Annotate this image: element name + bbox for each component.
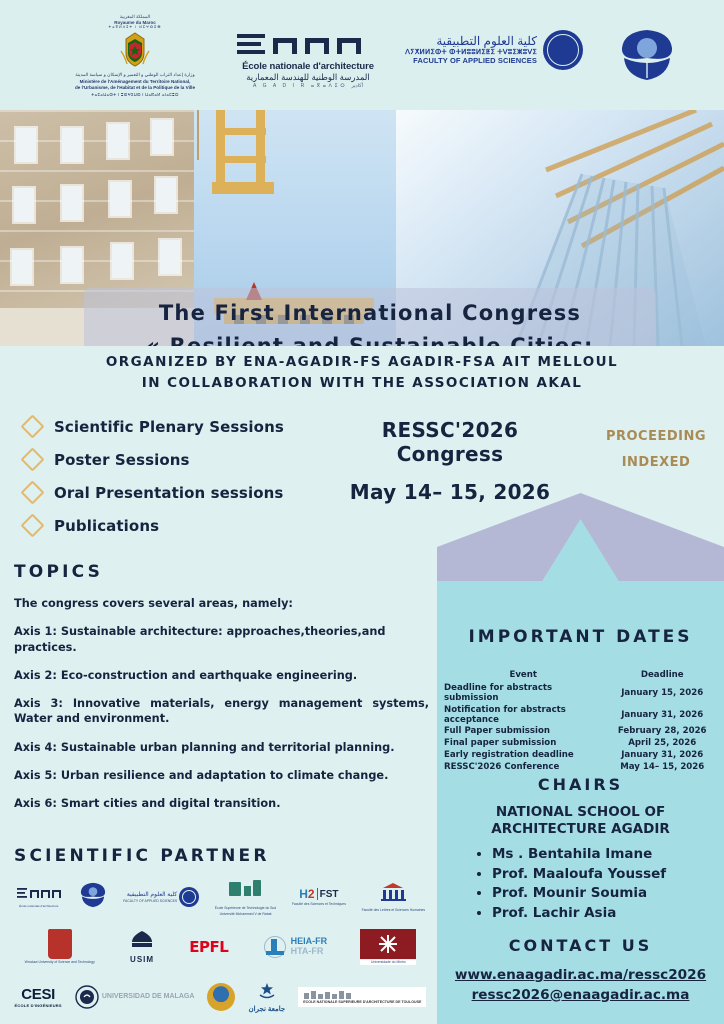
- table-row: Early registration deadline January 31, …: [444, 749, 722, 761]
- congress-info: RESSC'2026 Congress May 14– 15, 2026: [325, 418, 575, 504]
- topic-axis-1: Axis 1: Sustainable architecture: approa…: [14, 624, 434, 655]
- contact-details: www.enaagadir.ac.ma/ressc2026 ressc2026@…: [437, 966, 724, 1005]
- malaga-seal-icon: [75, 985, 99, 1009]
- date-event: Full Paper submission: [444, 726, 602, 738]
- date-event: Deadline for abstracts submission: [444, 682, 602, 704]
- partner-subcaption: ÉCOLE D'INGÉNIEURS: [15, 1003, 62, 1008]
- diamond-bullet-icon: [20, 513, 44, 537]
- table-row: Full Paper submission February 28, 2026: [444, 726, 722, 738]
- ena-agadir-logo: École nationale d'architecture المدرسة ا…: [233, 32, 383, 89]
- partner-faculty-applied-sciences: كلية العلوم التطبيقية FACULTY OF APPLIED…: [123, 887, 199, 907]
- important-dates-table: Event Deadline Deadline for abstracts su…: [444, 670, 722, 773]
- ibn-zohr-university-logo: [612, 28, 682, 87]
- table-row: Final paper submission April 25, 2026: [444, 737, 722, 749]
- date-event: Early registration deadline: [444, 749, 602, 761]
- fas-arabic-name: كلية العلوم التطبيقية: [398, 35, 537, 48]
- topic-axis-5: Axis 5: Urban resilience and adaptation …: [14, 768, 434, 783]
- partner-caption: Wroclaw University of Science and Techno…: [25, 960, 95, 964]
- partner-caption: École nationale d'architecture: [16, 905, 62, 909]
- morocco-ministry-fr2: de l'Urbanisme, de l'Habitat et de la Po…: [75, 85, 195, 90]
- table-row: RESSC'2026 Conference May 14– 15, 2026: [444, 761, 722, 773]
- date-event: RESSC'2026 Conference: [444, 761, 602, 773]
- partner-wroclaw: Wroclaw University of Science and Techno…: [25, 929, 95, 964]
- partner-caption: USIM: [128, 955, 156, 964]
- website-link[interactable]: www.enaagadir.ac.ma/ressc2026: [455, 967, 706, 983]
- scientific-partner-heading: SCIENTIFIC PARTNER: [14, 846, 270, 866]
- column-header-deadline: Deadline: [602, 670, 722, 682]
- organized-by: ORGANIZED BY ENA-AGADIR-FS AGADIR-FSA AI…: [0, 352, 724, 394]
- topics-body: The congress covers several areas, namel…: [14, 596, 434, 824]
- partner-subcaption: Université Mohammed V de Rabat: [215, 912, 276, 916]
- ena-french-name: École nationale d'architecture: [233, 61, 383, 72]
- partner-usim: USIM: [128, 930, 156, 964]
- organized-by-line-1: ORGANIZED BY ENA-AGADIR-FS AGADIR-FSA AI…: [0, 352, 724, 373]
- partner-ensa-toulouse: ECOLE NATIONALE SUPERIEURE D'ARCHITECTUR…: [298, 987, 426, 1007]
- partner-caption: جامعة نجران: [249, 1005, 286, 1013]
- congress-name: RESSC'2026 Congress: [325, 418, 575, 466]
- topic-axis-6: Axis 6: Smart cities and digital transit…: [14, 796, 434, 811]
- session-label: Oral Presentation sessions: [54, 484, 283, 502]
- partner-flsh: Faculté des Lettres et Sciences Humaines: [362, 882, 426, 912]
- partner-caption: FACULTY OF APPLIED SCIENCES: [123, 899, 177, 903]
- partner-caption: Universidade do Minho: [360, 960, 416, 964]
- wroclaw-crest-icon: [48, 929, 72, 959]
- list-item: Ms . Bentahila Imane: [492, 846, 724, 862]
- contact-heading: CONTACT US: [437, 936, 724, 955]
- najran-logo-icon: [256, 982, 278, 1000]
- ensa-toulouse-logo-icon: ECOLE NATIONALE SUPERIEURE D'ARCHITECTUR…: [298, 987, 426, 1007]
- date-deadline: January 31, 2026: [602, 749, 722, 761]
- partner-est: École Supérieure de Technologie du Sud U…: [215, 878, 276, 916]
- usim-logo-icon: [128, 930, 156, 950]
- session-label: Scientific Plenary Sessions: [54, 418, 284, 436]
- morocco-tifinagh-kingdom: ⵜⴰⴳⵍⴷⵉⵜ ⵏ ⵍⵎⵖⵔⵉⴱ: [45, 25, 225, 29]
- date-event: Notification for abstracts acceptance: [444, 704, 602, 726]
- university-seal-icon: [78, 880, 108, 910]
- sessions-list: Scientific Plenary Sessions Poster Sessi…: [24, 410, 324, 542]
- morocco-ministry-arabic: وزارة إعداد التراب الوطني و التعمير و ال…: [45, 72, 225, 79]
- partner-caption: ECOLE NATIONALE SUPERIEURE D'ARCHITECTUR…: [303, 1000, 421, 1004]
- partner-caption: Faculté des Sciences et Techniques: [292, 902, 346, 906]
- proceeding-indexed-badge: PROCEEDING INDEXED: [600, 424, 712, 476]
- title-line-2: « Resilient and Sustainable Cities:: [84, 330, 656, 346]
- partner-cesi: CESI ÉCOLE D'INGÉNIEURS: [15, 986, 62, 1008]
- topics-heading: TOPICS: [14, 562, 103, 582]
- proceeding-line-2: INDEXED: [600, 450, 712, 476]
- partner-logo-row-2: Wroclaw University of Science and Techno…: [8, 922, 433, 972]
- session-label: Poster Sessions: [54, 451, 190, 469]
- list-item: Prof. Mounir Soumia: [492, 885, 724, 901]
- partner-heia-fr: HEIA-FR HTA-FR: [262, 936, 328, 958]
- morocco-ministry-tifinagh: ⵜⴰⵎⴰⵡⴰⵙⵜ ⵏ ⵓⵙⵖⵉⵡⵙ ⵏ ⵡⴰⴽⴰⵍ ⴰⵏⴰⵎⵓⵔ: [45, 92, 225, 97]
- diamond-bullet-icon: [20, 414, 44, 438]
- date-event: Final paper submission: [444, 737, 602, 749]
- diamond-bullet-icon: [20, 447, 44, 471]
- fas-tifinagh-name: ⴷⵢⵅⵍⵍⵉⵀⵜ ⵀⵜⵍⵓⵓⵍⵉⵟⵉ ⵜⴸⵓⵉⵥⵓⴸⵉ: [398, 48, 537, 56]
- title-banner: The First International Congress « Resil…: [0, 110, 724, 346]
- table-row: Deadline for abstracts submission Januar…: [444, 682, 722, 704]
- partner-epfl: EPFL: [189, 938, 228, 956]
- date-deadline: January 15, 2026: [602, 682, 722, 704]
- faculty-applied-sciences-logo: كلية العلوم التطبيقية ⴷⵢⵅⵍⵍⵉⵀⵜ ⵀⵜⵍⵓⵓⵍⵉⵟⵉ…: [398, 30, 583, 70]
- morocco-crest-icon: [118, 31, 152, 69]
- chairs-institution-line-1: NATIONAL SCHOOL OF: [457, 804, 704, 821]
- topic-axis-3: Axis 3: Innovative materials, energy man…: [14, 696, 429, 727]
- organized-by-line-2: IN COLLABORATION WITH THE ASSOCIATION AK…: [0, 373, 724, 394]
- morocco-ministry-logo: المملكة المغربية Royaume du Maroc ⵜⴰⴳⵍⴷⵉ…: [45, 14, 225, 97]
- university-seal-icon: [543, 30, 583, 70]
- list-item: Prof. Maaloufa Youssef: [492, 866, 724, 882]
- congress-title-plate: The First International Congress « Resil…: [84, 288, 656, 346]
- list-item: Poster Sessions: [24, 443, 324, 476]
- ena-logo-icon: [233, 32, 383, 56]
- column-header-event: Event: [444, 670, 602, 682]
- house-body-shape: [437, 581, 724, 1024]
- title-line-1: The First International Congress: [84, 297, 656, 330]
- fst-logo-icon: H2 FST: [292, 887, 346, 901]
- partner-najran: جامعة نجران: [249, 982, 286, 1013]
- partner-caption: CESI: [15, 986, 62, 1003]
- list-item: Publications: [24, 509, 324, 542]
- conference-poster: المملكة المغربية Royaume du Maroc ⵜⴰⴳⵍⴷⵉ…: [0, 0, 724, 1024]
- topic-axis-2: Axis 2: Eco-construction and earthquake …: [14, 668, 434, 683]
- important-dates-heading: IMPORTANT DATES: [437, 627, 724, 647]
- fas-english-name: FACULTY OF APPLIED SCIENCES: [398, 56, 537, 65]
- partner-caption: UNIVERSIDAD DE MALAGA: [102, 993, 195, 1001]
- chairs-people-list: Ms . Bentahila Imane Prof. Maaloufa Yous…: [478, 846, 724, 924]
- partner-caption: École Supérieure de Technologie du Sud: [215, 906, 276, 910]
- partner-logo-row-1: École nationale d'architecture كلية العل…: [8, 872, 433, 922]
- date-deadline: April 25, 2026: [602, 737, 722, 749]
- date-deadline: January 31, 2026: [602, 704, 722, 726]
- date-deadline: February 28, 2026: [602, 726, 722, 738]
- partner-university-crest: [207, 983, 235, 1011]
- university-crest-icon: [207, 983, 235, 1011]
- morocco-ministry-fr1: Ministère de l'Aménagement du Territoire…: [80, 79, 191, 84]
- session-label: Publications: [54, 517, 159, 535]
- partner-subcaption: HTA-FR: [291, 947, 328, 957]
- list-item: Oral Presentation sessions: [24, 476, 324, 509]
- partner-caption: Faculté des Lettres et Sciences Humaines: [362, 908, 426, 912]
- est-logo-icon: [227, 878, 263, 900]
- scientific-partner-logos: École nationale d'architecture كلية العل…: [8, 872, 433, 1022]
- heia-building-icon: [262, 936, 288, 958]
- partner-fst: H2 FST Faculté des Sciences et Technique…: [292, 887, 346, 906]
- chairs-heading: CHAIRS: [437, 775, 724, 794]
- email-link[interactable]: ressc2026@enaagadir.ac.ma: [472, 987, 690, 1003]
- proceeding-line-1: PROCEEDING: [600, 424, 712, 450]
- table-row: Notification for abstracts acceptance Ja…: [444, 704, 722, 726]
- topic-axis-4: Axis 4: Sustainable urban planning and t…: [14, 740, 434, 755]
- university-seal-icon: [179, 887, 199, 907]
- flsh-logo-icon: [378, 882, 408, 902]
- header-logos: المملكة المغربية Royaume du Maroc ⵜⴰⴳⵍⴷⵉ…: [0, 0, 724, 110]
- list-item: Prof. Lachir Asia: [492, 905, 724, 921]
- ibn-zohr-university-seal-icon: [616, 28, 678, 82]
- ena-city: A G A D I R ⴰⴳⴰⴷⵉⵔ أكادير: [233, 83, 383, 89]
- partner-minho: Universidade do Minho: [360, 929, 416, 964]
- topics-intro: The congress covers several areas, namel…: [14, 596, 434, 611]
- partner-ena-agadir: École nationale d'architecture: [16, 886, 62, 909]
- date-deadline: May 14– 15, 2026: [602, 761, 722, 773]
- minho-logo-icon: [360, 929, 416, 959]
- ena-arabic-name: المدرسة الوطنية للهندسة المعمارية: [233, 72, 383, 83]
- diamond-bullet-icon: [20, 480, 44, 504]
- partner-ibn-zohr: [78, 880, 108, 915]
- chairs-institution: NATIONAL SCHOOL OF ARCHITECTURE AGADIR: [457, 804, 704, 839]
- chairs-institution-line-2: ARCHITECTURE AGADIR: [457, 821, 704, 838]
- partner-logo-row-3: CESI ÉCOLE D'INGÉNIEURS UNIVERSIDAD DE M…: [8, 972, 433, 1022]
- ena-logo-icon: [16, 888, 62, 899]
- partner-malaga: UNIVERSIDAD DE MALAGA: [75, 985, 195, 1009]
- list-item: Scientific Plenary Sessions: [24, 410, 324, 443]
